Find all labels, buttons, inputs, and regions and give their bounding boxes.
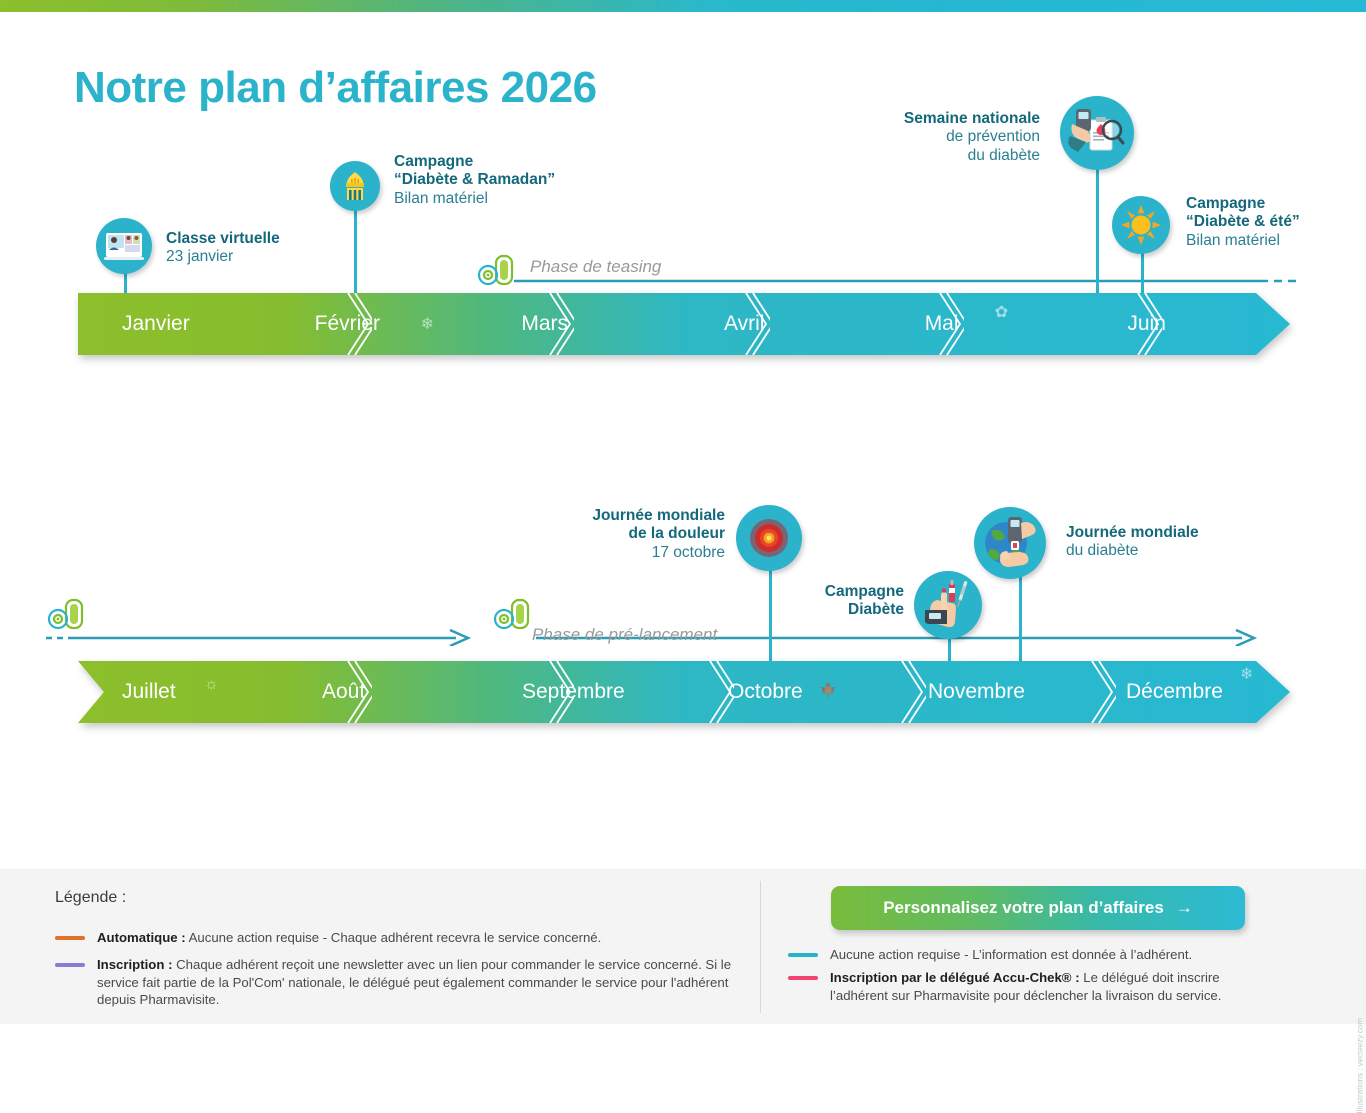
event-line-2: de la douleur	[440, 525, 725, 543]
event-line-1: Campagne	[1186, 195, 1300, 213]
finger-prick-icon	[921, 580, 975, 630]
cta-label: Personnalisez votre plan d’affaires	[883, 898, 1164, 918]
sun-icon	[1120, 204, 1162, 246]
month-label: Mars	[521, 312, 568, 336]
phase-label-prelaunch: Phase de pré-lancement	[532, 625, 717, 645]
legend-item-bold: Inscription par le délégué Accu-Chek® :	[830, 970, 1080, 985]
event-bubble-campagne-ete[interactable]	[1112, 196, 1170, 254]
arrow-right-icon: →	[1176, 898, 1193, 918]
month-cell[interactable]: Septembre	[486, 661, 686, 723]
event-line-3: du diabète	[688, 147, 1040, 165]
event-line-1: Journée mondiale	[440, 507, 725, 525]
personalize-plan-button[interactable]: Personnalisez votre plan d’affaires →	[831, 886, 1245, 930]
month-cell[interactable]: Août	[286, 661, 486, 723]
pain-target-icon	[743, 512, 795, 564]
event-bubble-campagne-ramadan[interactable]	[330, 161, 380, 211]
month-label: Mai	[925, 312, 959, 336]
month-cell[interactable]: Juin	[1087, 293, 1290, 355]
event-line-2: “Diabète & été”	[1186, 213, 1300, 231]
legend-color-swatch	[55, 963, 85, 967]
month-cell[interactable]: Juillet ☼	[78, 661, 286, 723]
month-cell[interactable]: Février ❄	[285, 293, 478, 355]
event-stem	[1141, 250, 1144, 294]
legend-item-inscription-delegue: Inscription par le délégué Accu-Chek® : …	[788, 969, 1268, 1004]
video-class-icon	[104, 230, 144, 262]
event-line-3: 17 octobre	[440, 544, 725, 562]
legend-item-text: Automatique : Aucune action requise - Ch…	[97, 929, 601, 947]
month-label: Juillet	[122, 680, 176, 704]
legend-divider	[760, 881, 761, 1013]
month-label: Février	[315, 312, 380, 336]
month-label: Septembre	[522, 680, 625, 704]
season-icon-snowflake: ❄	[421, 317, 434, 333]
event-line-1: Campagne	[394, 153, 555, 171]
month-cell[interactable]: Janvier	[78, 293, 285, 355]
event-line-1: Journée mondiale	[1066, 524, 1199, 542]
season-icon-snowflake: ❄	[1240, 667, 1253, 683]
event-bubble-campagne-diabete[interactable]	[914, 571, 982, 639]
event-bubble-semaine-prevention[interactable]	[1060, 96, 1134, 170]
month-cell[interactable]: Mai ✿	[887, 293, 1088, 355]
month-cell[interactable]: Avril	[684, 293, 887, 355]
top-gradient-bar	[0, 0, 1366, 12]
illustration-credit: Illustrations : vecteezy.com	[1355, 1018, 1364, 1113]
event-callout-journee-douleur: Journée mondiale de la douleur 17 octobr…	[440, 507, 725, 562]
month-list-first-half: Janvier Février ❄ Mars Avril Mai ✿ Juin	[78, 293, 1290, 355]
event-line-2: de prévention	[688, 128, 1040, 146]
month-label: Août	[322, 680, 365, 704]
legend-color-swatch	[788, 976, 818, 980]
event-bubble-journee-diabete[interactable]	[974, 507, 1046, 579]
event-line-1: Campagne	[700, 583, 904, 601]
event-bubble-classe-virtuelle[interactable]	[96, 218, 152, 274]
legend-color-swatch	[788, 953, 818, 957]
event-stem	[1019, 575, 1022, 662]
month-label: Novembre	[928, 680, 1025, 704]
event-callout-campagne-diabete: Campagne Diabète	[700, 583, 904, 620]
legend-item-body: Aucune action requise - L’information es…	[830, 947, 1192, 962]
legend-item-bold: Inscription :	[97, 957, 172, 972]
glucometer-report-icon	[1068, 106, 1126, 160]
month-cell[interactable]: Décembre ❄	[1092, 661, 1290, 723]
season-icon-flower: ✿	[995, 305, 1008, 321]
page-title: Notre plan d’affaires 2026	[74, 63, 597, 113]
legend-item-bold: Automatique :	[97, 930, 186, 945]
month-label: Décembre	[1126, 680, 1223, 704]
legend-item-text: Aucune action requise - L’information es…	[830, 946, 1192, 964]
legend-heading: Légende :	[55, 889, 126, 907]
legend-item-text: Inscription : Chaque adhérent reçoit une…	[97, 956, 745, 1009]
event-callout-journee-diabete: Journée mondiale du diabète	[1066, 524, 1199, 561]
legend-item-inscription: Inscription : Chaque adhérent reçoit une…	[55, 956, 745, 1009]
event-line-3: Bilan matériel	[1186, 232, 1300, 250]
season-icon-sun: ☼	[204, 677, 219, 693]
month-cell[interactable]: Mars	[477, 293, 684, 355]
event-line-3: Bilan matériel	[394, 190, 555, 208]
mosque-icon	[339, 170, 371, 202]
legend-item-automatique: Automatique : Aucune action requise - Ch…	[55, 929, 745, 947]
legend-item-body: Chaque adhérent reçoit une newsletter av…	[97, 957, 731, 1007]
event-stem	[1096, 165, 1099, 294]
phase-label-teasing: Phase de teasing	[530, 257, 661, 277]
event-line-2: 23 janvier	[166, 248, 280, 266]
month-label: Octobre	[728, 680, 803, 704]
event-line-1: Classe virtuelle	[166, 230, 280, 248]
event-line-2: Diabète	[700, 601, 904, 619]
season-icon-leaf: 🍁	[820, 683, 836, 696]
legend-item-body: Aucune action requise - Chaque adhérent …	[186, 930, 602, 945]
event-line-2: du diabète	[1066, 542, 1199, 560]
legend-item-text: Inscription par le délégué Accu-Chek® : …	[830, 969, 1268, 1004]
month-list-second-half: Juillet ☼ Août Septembre Octobre 🍁 Novem…	[78, 661, 1290, 723]
event-stem	[354, 205, 357, 294]
event-callout-campagne-ramadan: Campagne “Diabète & Ramadan” Bilan matér…	[394, 153, 555, 208]
event-callout-semaine-prevention: Semaine nationale de prévention du diabè…	[688, 110, 1040, 165]
timeline-bar-first-half: Janvier Février ❄ Mars Avril Mai ✿ Juin	[78, 293, 1290, 355]
event-line-1: Semaine nationale	[688, 110, 1040, 128]
month-label: Avril	[724, 312, 764, 336]
month-cell[interactable]: Novembre	[892, 661, 1092, 723]
month-cell[interactable]: Octobre 🍁	[686, 661, 892, 723]
event-callout-campagne-ete: Campagne “Diabète & été” Bilan matériel	[1186, 195, 1300, 250]
month-label: Juin	[1127, 312, 1166, 336]
legend-item-aucune-action: Aucune action requise - L’information es…	[788, 946, 1268, 964]
timeline-bar-second-half: Juillet ☼ Août Septembre Octobre 🍁 Novem…	[78, 661, 1290, 723]
event-bubble-journee-douleur[interactable]	[736, 505, 802, 571]
event-callout-classe-virtuelle: Classe virtuelle 23 janvier	[166, 230, 280, 267]
month-label: Janvier	[122, 312, 190, 336]
event-line-2: “Diabète & Ramadan”	[394, 171, 555, 189]
globe-glucometer-icon	[981, 515, 1039, 571]
legend-color-swatch	[55, 936, 85, 940]
